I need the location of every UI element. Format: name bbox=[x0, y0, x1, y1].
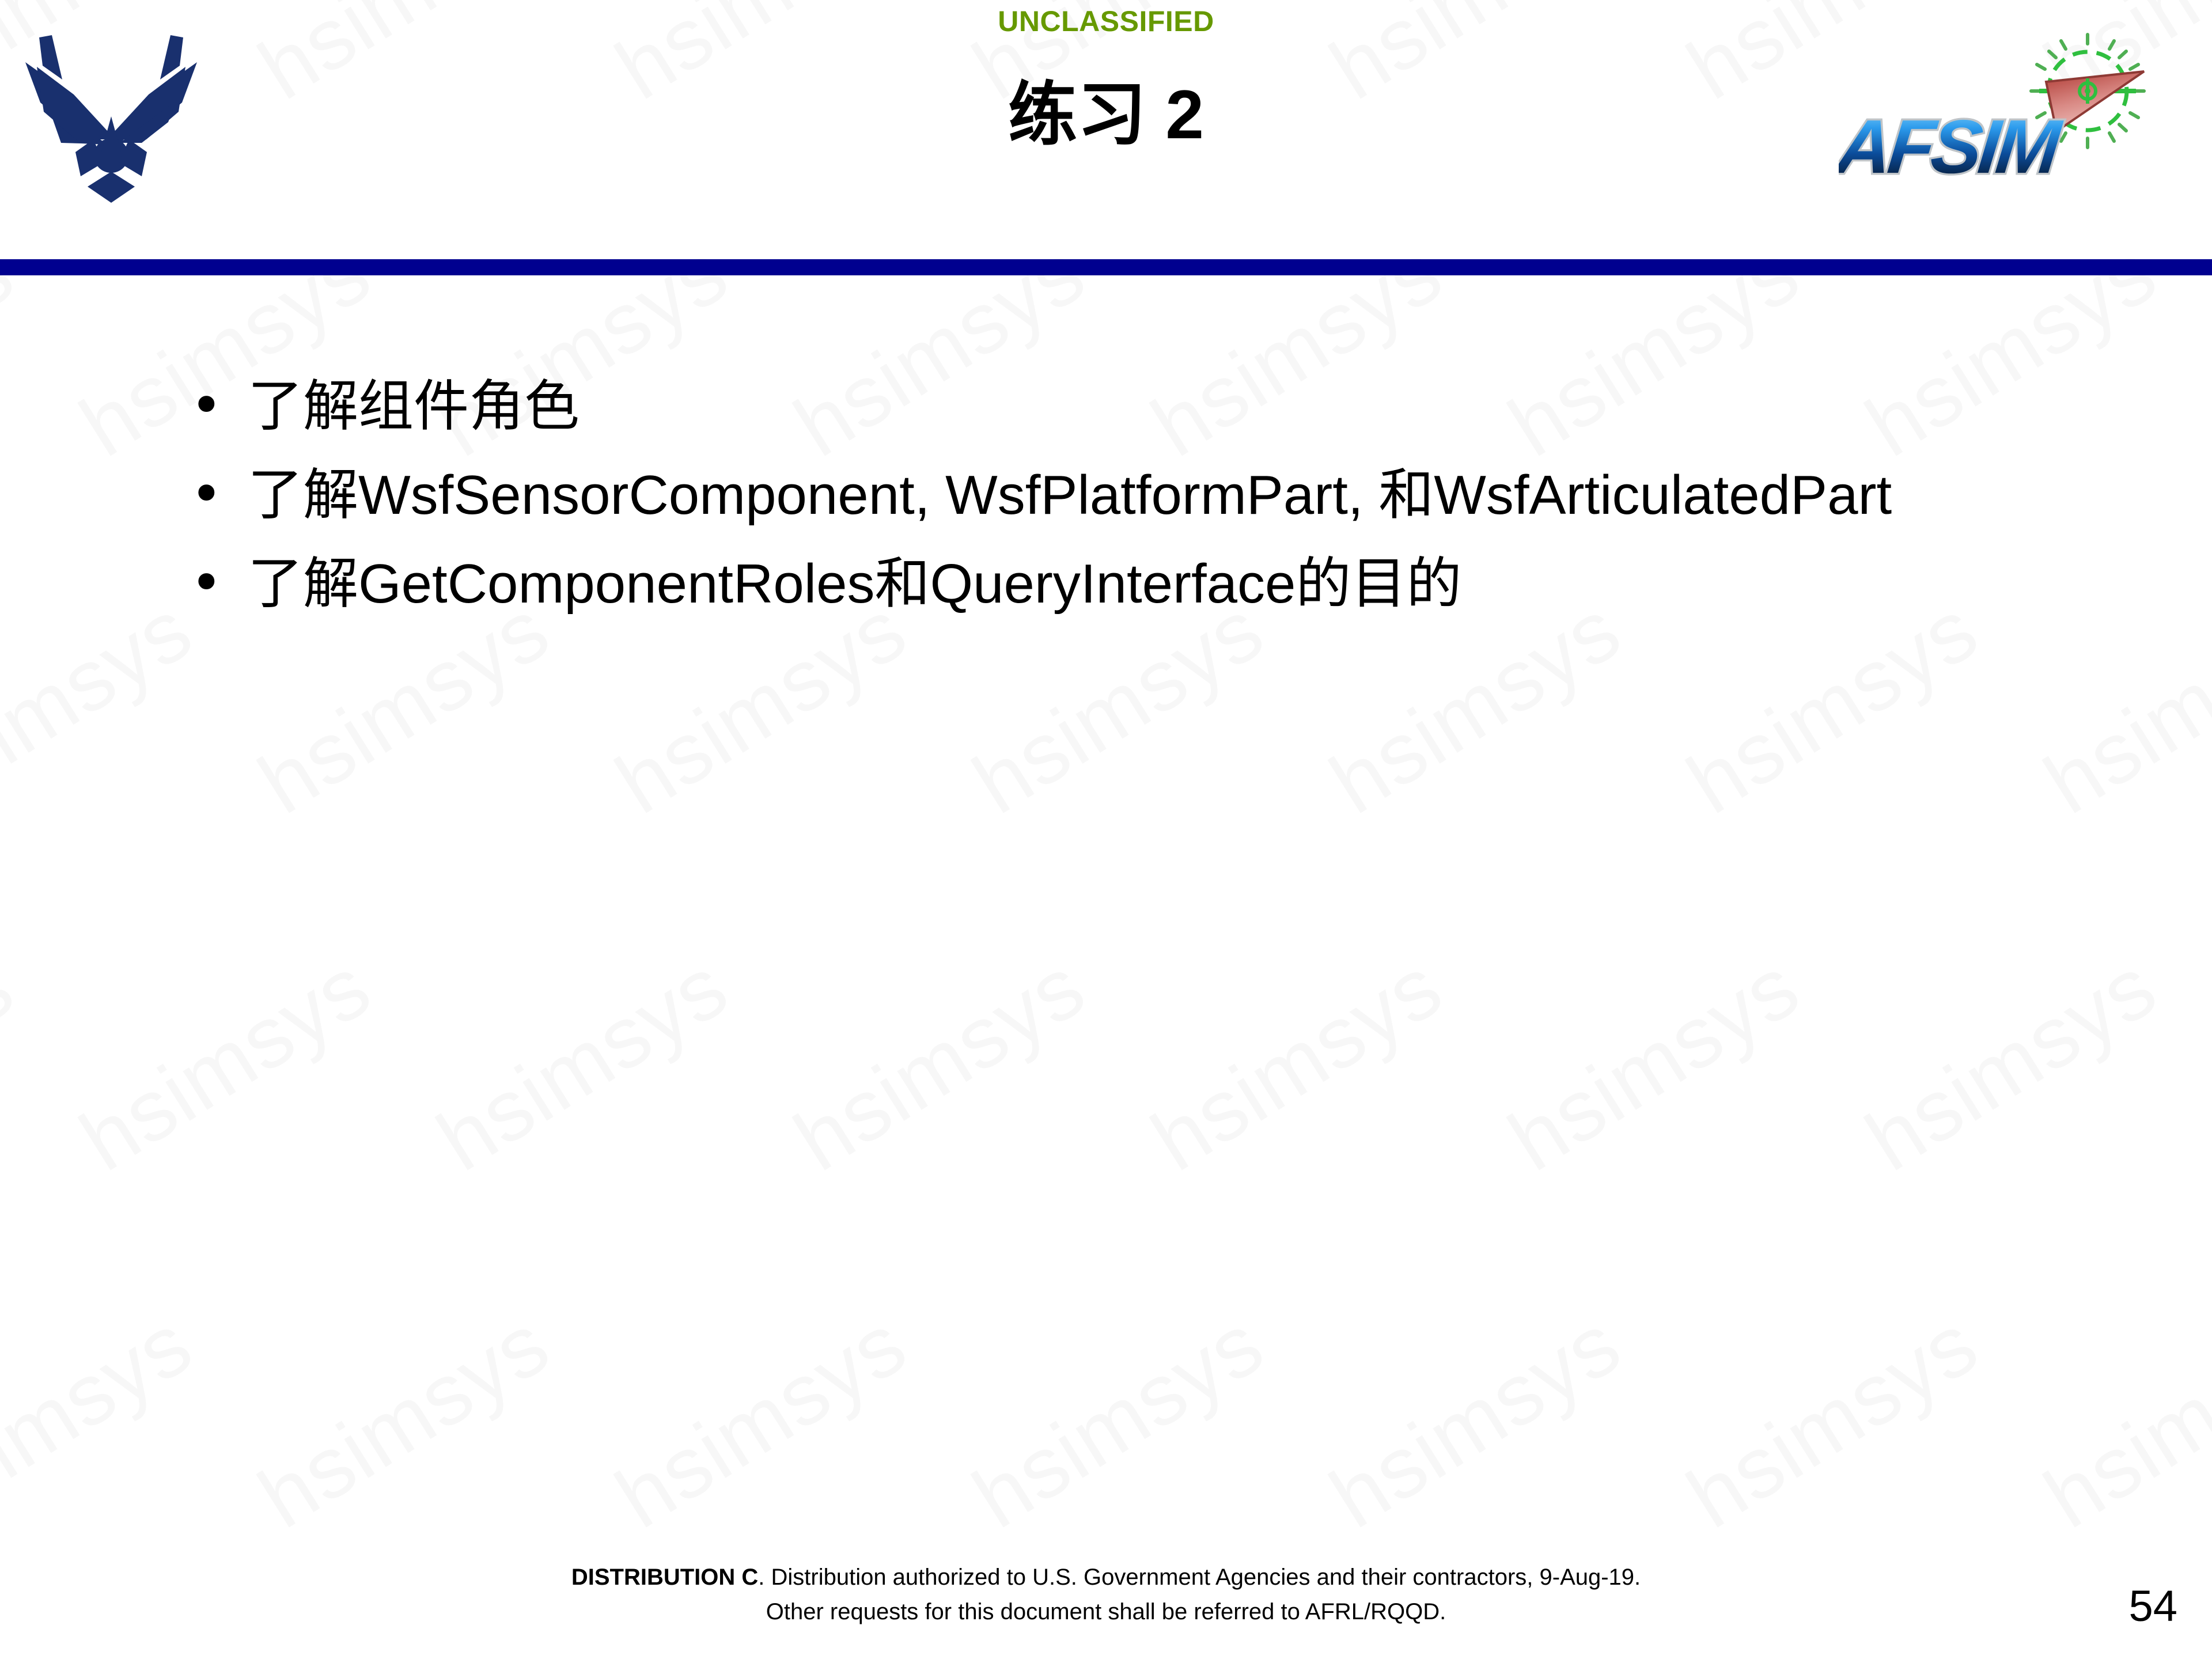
slide-content: • 了解组件角色 • 了解WsfSensorComponent, WsfPlat… bbox=[0, 369, 2212, 635]
list-item: • 了解WsfSensorComponent, WsfPlatformPart,… bbox=[0, 457, 2212, 533]
bullet-text: 了解GetComponentRoles和QueryInterface的目的 bbox=[248, 546, 1941, 622]
bullet-marker-icon: • bbox=[190, 369, 248, 442]
watermark-text: hsimsys bbox=[421, 1651, 745, 1659]
watermark-text: hsimsys bbox=[63, 1651, 388, 1659]
distribution-label: DISTRIBUTION C bbox=[571, 1565, 758, 1590]
watermark-layer: hsimsyshsimsyshsimsyshsimsyshsimsyshsims… bbox=[0, 0, 2212, 1659]
watermark-text: hsimsys bbox=[0, 1294, 209, 1548]
header-divider-rule bbox=[0, 259, 2212, 275]
watermark-text: hsimsys bbox=[421, 937, 745, 1191]
svg-text:AFSIM: AFSIM bbox=[1839, 104, 2066, 190]
watermark-text: hsimsys bbox=[1492, 1651, 1816, 1659]
slide-canvas: hsimsyshsimsyshsimsyshsimsyshsimsyshsims… bbox=[0, 0, 2212, 1659]
watermark-text: hsimsys bbox=[1135, 1651, 1459, 1659]
watermark-text: hsimsys bbox=[1135, 937, 1459, 1191]
list-item: • 了解组件角色 bbox=[0, 369, 2212, 445]
bullet-marker-icon: • bbox=[190, 457, 248, 531]
bullet-text: 了解组件角色 bbox=[248, 369, 1941, 445]
watermark-text: hsimsys bbox=[1313, 1294, 1638, 1548]
bullet-text: 了解WsfSensorComponent, WsfPlatformPart, 和… bbox=[248, 457, 1941, 533]
page-number: 54 bbox=[2128, 1581, 2177, 1631]
watermark-text: hsimsys bbox=[2206, 1651, 2212, 1659]
distribution-line-2: Other requests for this document shall b… bbox=[0, 1594, 2212, 1629]
watermark-text: hsimsys bbox=[599, 1294, 923, 1548]
list-item: • 了解GetComponentRoles和QueryInterface的目的 bbox=[0, 546, 2212, 622]
distribution-statement: DISTRIBUTION C. Distribution authorized … bbox=[0, 1560, 2212, 1629]
watermark-text: hsimsys bbox=[956, 1294, 1281, 1548]
watermark-text: hsimsys bbox=[0, 937, 31, 1191]
bullet-marker-icon: • bbox=[190, 546, 248, 620]
afsim-logo: AFSIM bbox=[1839, 22, 2196, 195]
watermark-text: hsimsys bbox=[1849, 937, 2173, 1191]
air-force-logo bbox=[16, 30, 206, 203]
watermark-text: hsimsys bbox=[0, 1651, 31, 1659]
watermark-text: hsimsys bbox=[1492, 937, 1816, 1191]
watermark-text: hsimsys bbox=[1671, 1294, 1995, 1548]
watermark-text: hsimsys bbox=[778, 1651, 1102, 1659]
slide-footer: DISTRIBUTION C. Distribution authorized … bbox=[0, 1560, 2212, 1629]
watermark-text: hsimsys bbox=[1849, 1651, 2173, 1659]
watermark-text: hsimsys bbox=[778, 937, 1102, 1191]
watermark-text: hsimsys bbox=[242, 1294, 566, 1548]
watermark-text: hsimsys bbox=[2028, 1294, 2212, 1548]
watermark-text: hsimsys bbox=[2206, 937, 2212, 1191]
page-title: 练习 2 bbox=[357, 75, 1855, 154]
distribution-text: . Distribution authorized to U.S. Govern… bbox=[758, 1565, 1641, 1590]
distribution-line-1: DISTRIBUTION C. Distribution authorized … bbox=[0, 1560, 2212, 1594]
watermark-text: hsimsys bbox=[63, 937, 388, 1191]
